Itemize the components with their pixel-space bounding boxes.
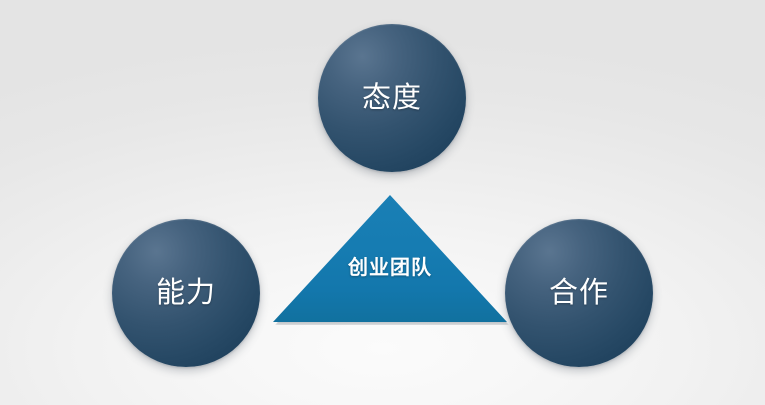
diagram-canvas: 态度 能力 合作 创业团队 — [0, 0, 765, 405]
node-circle-cooperation[interactable]: 合作 — [505, 219, 653, 367]
node-label-ability: 能力 — [156, 279, 216, 308]
node-label-attitude: 态度 — [362, 84, 422, 113]
node-circle-attitude[interactable]: 态度 — [318, 24, 466, 172]
node-circle-ability[interactable]: 能力 — [112, 219, 260, 367]
center-triangle-shape[interactable]: 创业团队 — [273, 195, 507, 322]
center-triangle-label: 创业团队 — [273, 258, 507, 278]
node-label-cooperation: 合作 — [549, 279, 609, 308]
